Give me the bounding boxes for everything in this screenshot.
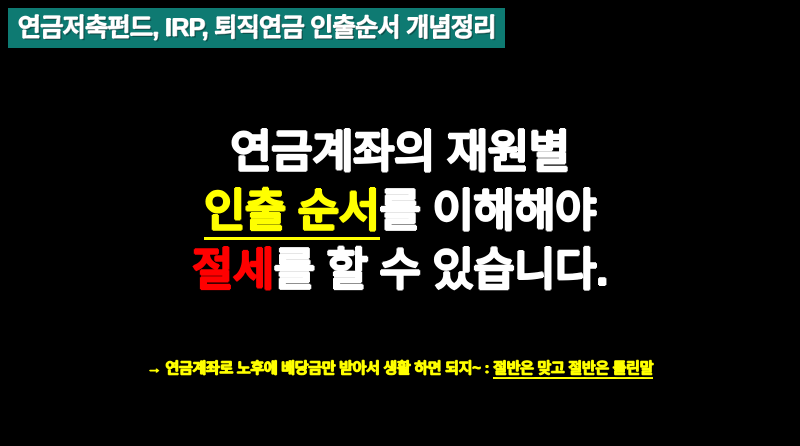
headline-line-3: 절세를 할 수 있습니다. xyxy=(0,240,800,299)
headline-line-3-highlight: 절세 xyxy=(192,244,274,295)
headline-line-1: 연금계좌의 재원별 xyxy=(0,122,800,181)
headline-line-2-highlight: 인출 순서 xyxy=(204,185,380,240)
headline-block: 연금계좌의 재원별 인출 순서를 이해해야 절세를 할 수 있습니다. xyxy=(0,122,800,299)
header-banner: 연금저축펀드, IRP, 퇴직연금 인출순서 개념정리 xyxy=(8,8,505,48)
arrow-right-icon: → xyxy=(147,360,162,377)
headline-line-3-rest: 를 할 수 있습니다. xyxy=(274,244,608,295)
slide-canvas: 연금저축펀드, IRP, 퇴직연금 인출순서 개념정리 연금계좌의 재원별 인출… xyxy=(0,0,800,446)
bottom-caption: →연금계좌로 노후에 배당금만 받아서 생활 하면 되지~ : 절반은 맞고 절… xyxy=(0,358,800,380)
headline-line-2-rest: 를 이해해야 xyxy=(380,185,597,236)
header-banner-title: 연금저축펀드, IRP, 퇴직연금 인출순서 개념정리 xyxy=(18,16,496,41)
headline-line-2: 인출 순서를 이해해야 xyxy=(0,181,800,240)
caption-plain-text: 연금계좌로 노후에 배당금만 받아서 생활 하면 되지~ : xyxy=(165,360,489,377)
headline-line-1-text: 연금계좌의 재원별 xyxy=(230,126,569,177)
caption-underlined-text: 절반은 맞고 절반은 틀린말 xyxy=(493,360,653,379)
